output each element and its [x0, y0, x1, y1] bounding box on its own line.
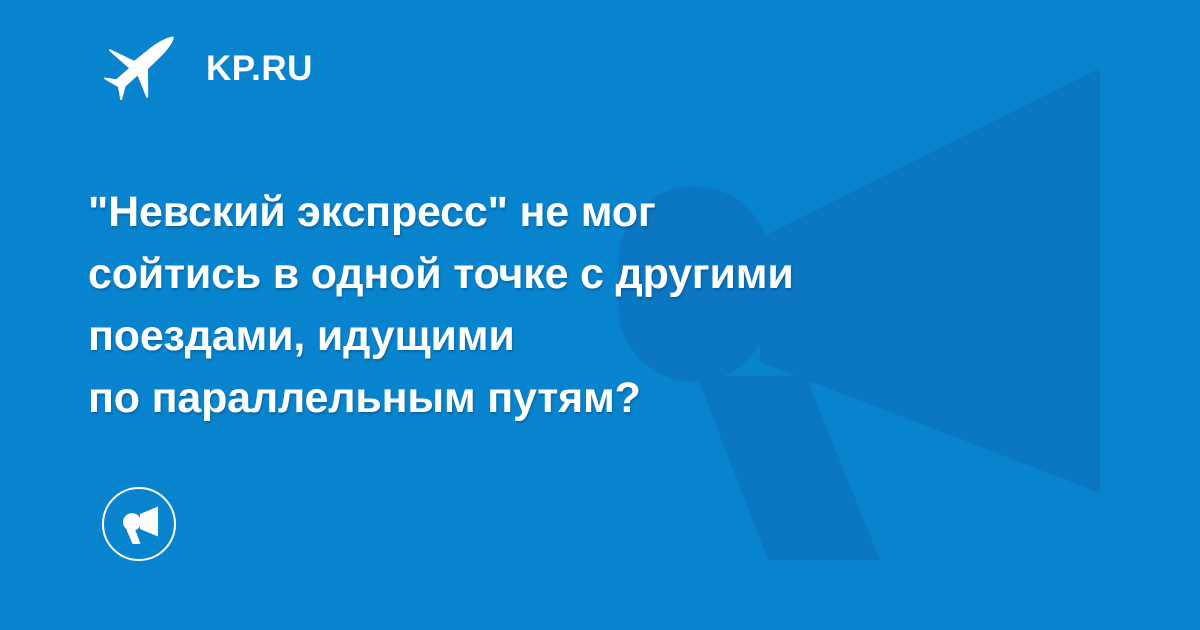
- megaphone-icon: [118, 505, 160, 545]
- headline-line-4: по параллельным путям?: [88, 367, 1098, 429]
- brand-lockup[interactable]: KP.RU: [104, 34, 313, 102]
- share-card: KP.RU "Невский экспресс" не мог сойтись …: [0, 0, 1200, 630]
- page-title: "Невский экспресс" не мог сойтись в одно…: [88, 181, 1098, 429]
- megaphone-badge[interactable]: [102, 487, 176, 561]
- headline-line-2: сойтись в одной точке с другими: [88, 243, 1098, 305]
- brand-name: KP.RU: [206, 51, 313, 86]
- headline-line-3: поездами, идущими: [88, 305, 1098, 367]
- headline-line-1: "Невский экспресс" не мог: [88, 181, 1098, 243]
- swallow-bird-icon: [104, 36, 176, 100]
